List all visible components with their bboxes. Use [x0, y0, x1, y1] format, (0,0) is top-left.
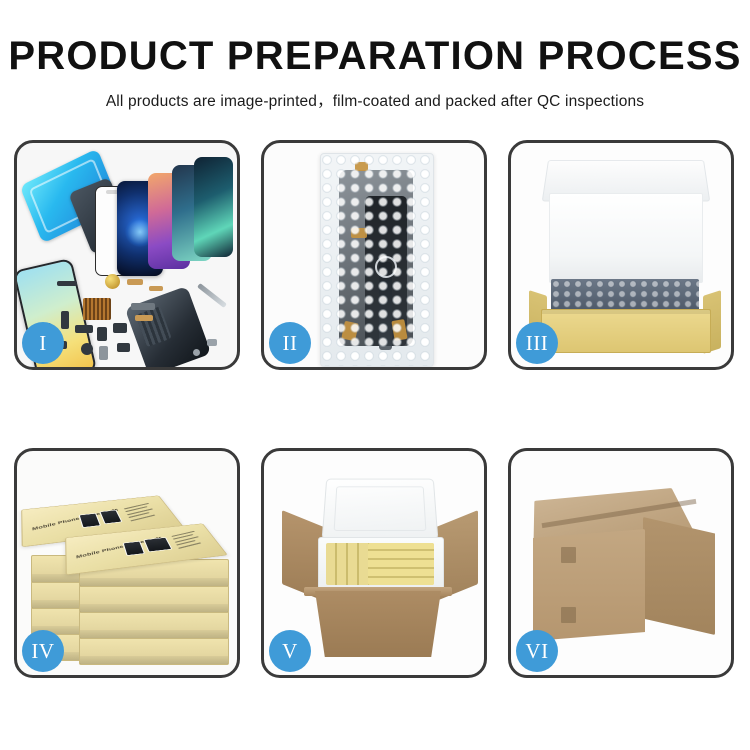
step-badge-6: VI	[516, 630, 558, 672]
bubble-wrap-bag-icon	[320, 153, 434, 367]
product-preparation-infographic: PRODUCT PREPARATION PROCESS All products…	[0, 0, 750, 750]
page-title: PRODUCT PREPARATION PROCESS	[0, 36, 750, 76]
small-part-icon	[99, 346, 108, 360]
retail-box-icon	[79, 637, 229, 665]
small-part-icon	[193, 349, 200, 356]
small-part-icon	[149, 286, 163, 291]
phone-green-icon	[194, 157, 233, 257]
step-panel-3: III	[508, 140, 734, 370]
step-panel-4: Mobile Phone Spare Parts Mobile Phone Sp…	[14, 448, 240, 678]
small-part-icon	[57, 281, 77, 286]
small-part-icon	[135, 315, 153, 321]
small-part-icon	[207, 339, 217, 346]
chip-grid-icon	[83, 298, 111, 320]
process-steps-grid: I II	[14, 140, 738, 678]
tweezers-icon	[197, 283, 227, 308]
camera-ring-icon	[375, 256, 397, 278]
step-panel-5: V	[261, 448, 487, 678]
carton-front-icon	[533, 529, 645, 641]
small-part-icon	[127, 279, 143, 285]
step-badge-4: IV	[22, 630, 64, 672]
phone-back-housing-icon	[125, 286, 212, 370]
tape-icon	[355, 162, 368, 171]
foam-lid-icon	[322, 479, 439, 540]
carton-handle-tab-icon	[561, 547, 576, 563]
small-part-icon	[61, 311, 69, 329]
retail-box-icon	[79, 611, 229, 639]
step-panel-6: VI	[508, 448, 734, 678]
step-badge-5: V	[269, 630, 311, 672]
step-panel-2: II	[261, 140, 487, 370]
carton-side-icon	[643, 517, 715, 635]
step-badge-2: II	[269, 322, 311, 364]
small-part-icon	[81, 343, 93, 355]
retail-boxes-row-icon	[368, 543, 434, 585]
foam-sheet-icon	[549, 193, 703, 283]
step-badge-1: I	[22, 322, 64, 364]
small-part-icon	[75, 325, 93, 333]
speaker-module-icon	[105, 274, 120, 289]
product-thumbnail-icon	[99, 510, 122, 524]
step-badge-3: III	[516, 322, 558, 364]
small-part-icon	[117, 343, 130, 352]
small-part-icon	[97, 327, 107, 341]
bubble-wrapped-contents-icon	[551, 279, 699, 313]
page-subtitle: All products are image-printed，film-coat…	[0, 89, 750, 111]
product-thumbnail-icon	[143, 537, 172, 552]
tape-icon	[351, 228, 367, 238]
retail-box-icon	[79, 585, 229, 613]
carton-handle-tab-icon	[561, 607, 576, 623]
header: PRODUCT PREPARATION PROCESS All products…	[0, 0, 750, 111]
step-panel-1: I	[14, 140, 240, 370]
carton-front-icon	[308, 591, 448, 657]
small-part-icon	[113, 323, 127, 333]
box-front-panel-icon	[541, 309, 711, 353]
small-part-icon	[131, 303, 155, 310]
